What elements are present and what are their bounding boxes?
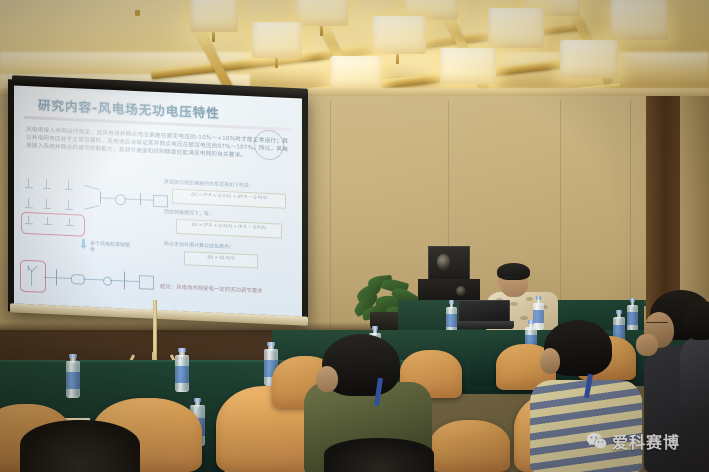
audience-hair [20,420,140,472]
wall-panel-seam [330,100,331,328]
lamp-shade [440,48,496,84]
audience-head [316,366,338,392]
slide-diagram-lower [20,258,170,303]
lamp-stem [212,32,215,42]
ceiling-spotlight [135,10,140,16]
slide-paragraph: 风电场接入并网运行规定，当风电场并网点电压偏差在额定电压的-10%～+10%时才… [26,126,288,162]
presenter-glasses-icon [499,277,519,284]
slide-conclusion: 结论：风电场并网受电一定的无功调节需求 [160,282,294,296]
slide-formula-2: ΔU ≈ (P·R + Q·X)/U + (P·X − Q·R)/U [176,219,282,239]
screen-surface: 研究内容-风电场无功电压特性 风电场接入并网运行规定，当风电场并网点电压偏差在额… [14,85,302,316]
lamp-shade [560,40,618,78]
lamp-shade [372,16,426,54]
slide-formula-3: ΔU ≈ (Q·X)/U [184,251,258,268]
wechat-icon [586,432,607,451]
presenter-laptop [452,300,514,330]
watermark-text: 爱科赛博 [612,429,680,453]
audience-front-left [20,420,140,472]
audience-head [540,348,560,374]
lamp-shade [190,0,238,32]
chair [430,420,510,472]
audience-front-right [324,438,434,472]
projection-screen: 研究内容-风电场无功电压特性 风电场接入并网运行规定，当风电场并网点电压偏差在额… [8,86,308,318]
slide-label-3: 所以无功补偿计算公式化简为： [164,240,276,252]
screen-tripod-post [153,300,157,360]
speaker-cone-icon [456,286,466,296]
slide-down-arrow-icon: ⬇ [78,238,89,251]
slide-formula-1: ΔU = (P·R + Q·X)/U + j(P·X − Q·R)/U [172,189,286,209]
lamp-shade [296,0,348,26]
wall-panel-seam [560,100,561,328]
audience-far-right-edge [680,300,709,410]
audience-hand [636,334,658,356]
wall-panel-seam [630,100,631,328]
water-bottle [66,354,80,398]
speaker-cone-icon [437,254,450,270]
audience-glasses-icon [646,322,668,329]
lamp-stem [396,54,399,64]
conference-room-photo: 研究内容-风电场无功电压特性 风电场接入并网运行规定，当风电场并网点电压偏差在额… [0,0,709,472]
lamp-shade [252,22,302,58]
slide-arrow-note: 多个风电机等效聚合 [90,241,130,255]
lamp-shade [330,56,382,90]
slide-diagram-upper [22,174,172,239]
lamp-shade [488,8,544,48]
audience-hair [684,300,709,340]
slide-highlight-box-lower [20,260,46,293]
laptop-base [452,321,514,329]
audience-torso [680,336,709,410]
audience-hair [324,438,434,472]
watermark: 爱科赛博 [586,428,702,454]
lamp-stem [275,58,278,68]
lamp-shade [610,0,668,40]
water-bottle [446,300,457,334]
water-bottle [175,348,189,392]
lamp-stem [320,26,323,36]
